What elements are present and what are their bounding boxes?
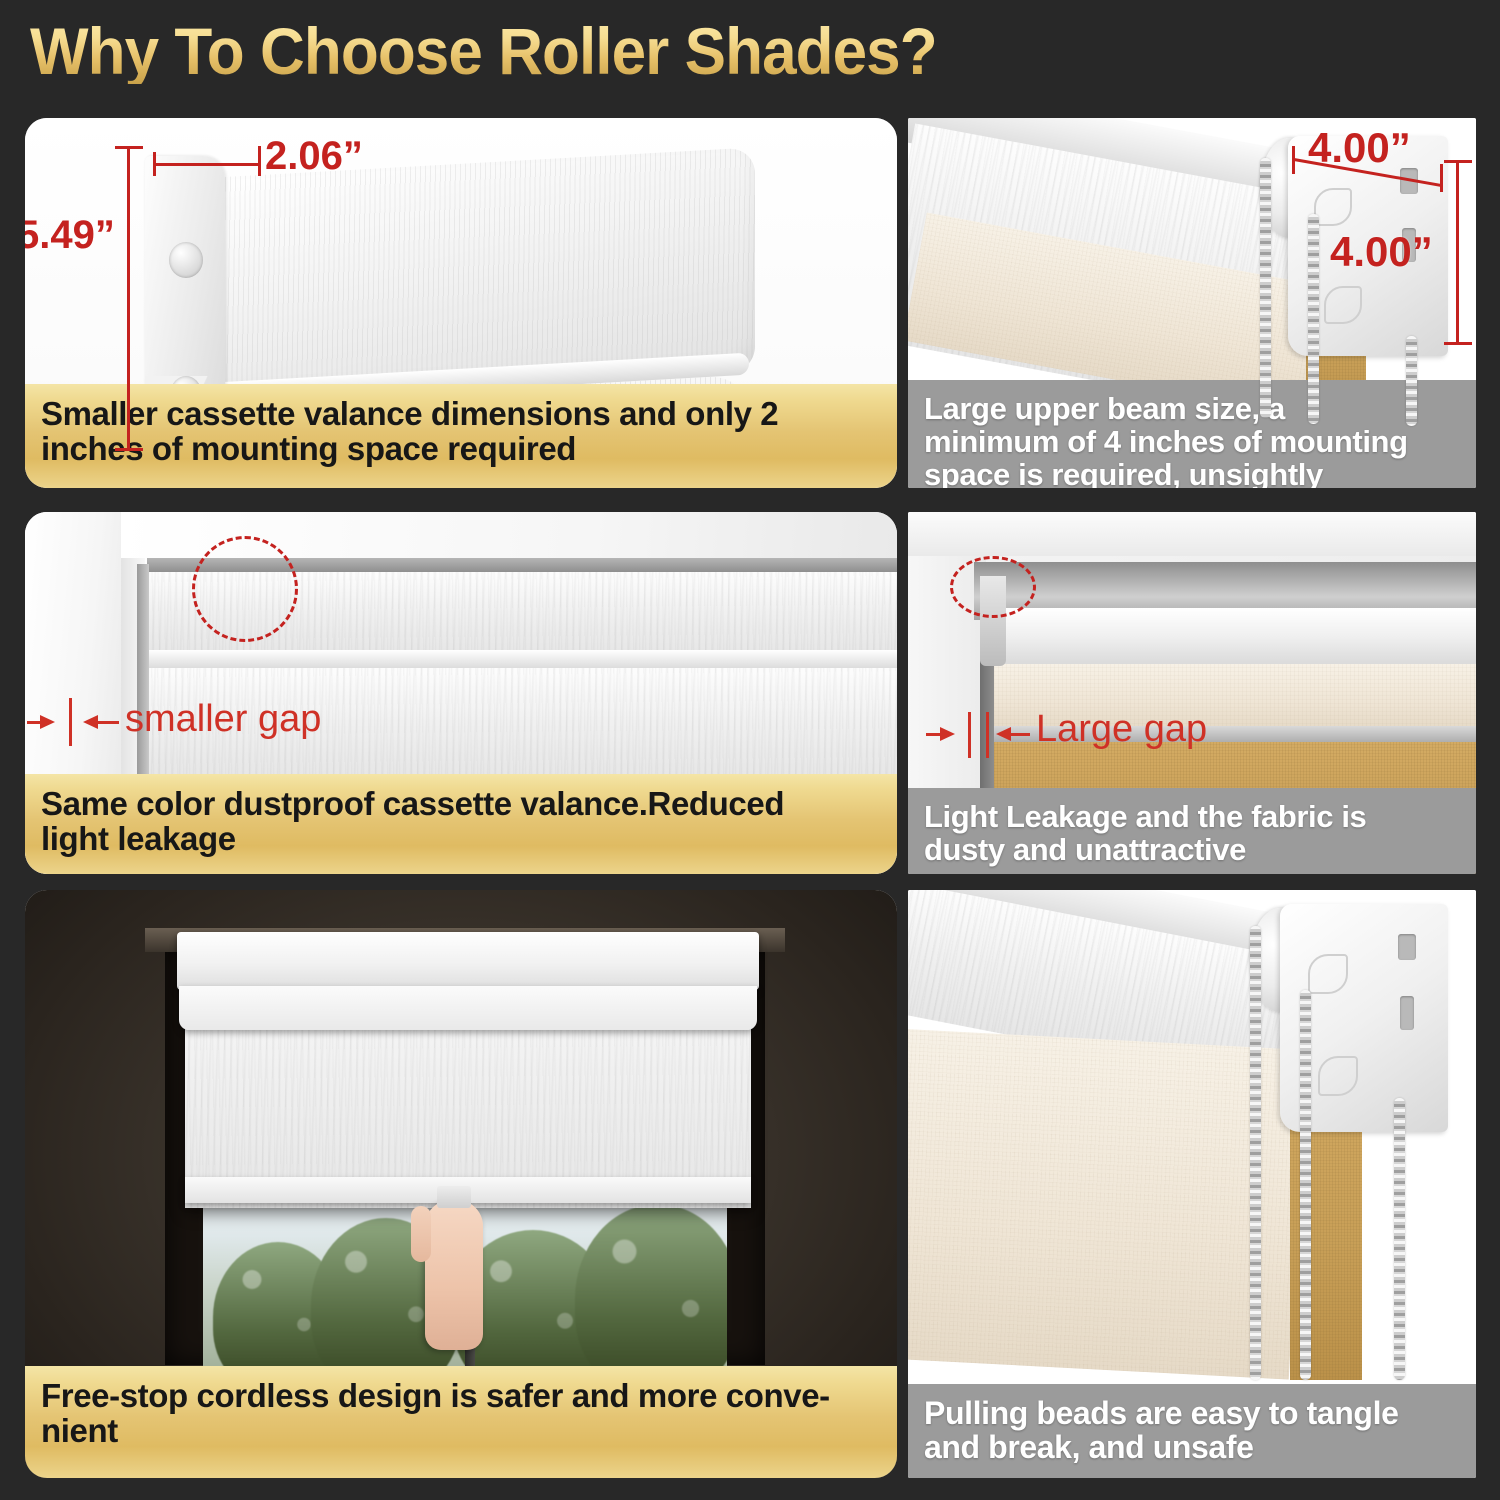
tree-foliage <box>575 1204 727 1375</box>
pull-tab <box>437 1186 471 1208</box>
page-title: Why To Choose Roller Shades? <box>30 18 937 84</box>
height-dimension-line <box>127 146 130 451</box>
valance-mid-lip <box>147 650 897 668</box>
caption-smaller-cassette-valance: Smaller cassette valance dimensions and … <box>25 384 897 488</box>
cassette-valance-lip <box>179 986 757 1030</box>
panel-pulling-beads-tangle: Pulling beads are easy to tangle and bre… <box>908 890 1476 1478</box>
height-dimension-label: 5.49” <box>25 213 115 258</box>
caption-line-2: inches of mounting space required <box>41 431 778 466</box>
caption-light-leakage-dusty-fabric: Light Leakage and the fabric is dusty an… <box>908 788 1476 874</box>
bead-chain-left <box>1260 158 1271 418</box>
caption-line-1: Free-stop cordless design is safer and m… <box>41 1378 830 1413</box>
panel-same-color-dustproof-valance: smaller gap Same color dustproof cassett… <box>25 512 897 874</box>
beam-height-cap-top <box>1444 160 1472 163</box>
panel-free-stop-cordless-design: Free-stop cordless design is safer and m… <box>25 890 897 1478</box>
caption-line-2: and break, and unsafe <box>924 1430 1398 1464</box>
width-dimension-cap-left <box>153 152 156 176</box>
panel-large-upper-beam: 4.00” 4.00” Large upper beam size, a min… <box>908 118 1476 488</box>
caption-large-upper-beam: Large upper beam size, a minimum of 4 in… <box>908 380 1476 488</box>
beam-height-label: 4.00” <box>1330 228 1433 276</box>
caption-line-2: nient <box>41 1413 830 1448</box>
gap-label: smaller gap <box>125 698 321 741</box>
end-cap-clutch-knob <box>169 242 203 278</box>
caption-line-3: space is required, unsightly <box>924 458 1408 488</box>
shade-fabric-cream <box>908 1028 1306 1379</box>
beam-width-cap-right <box>1440 164 1443 192</box>
caption-line-1: Light Leakage and the fabric is <box>924 800 1366 833</box>
ceiling-surface <box>908 512 1476 556</box>
caption-same-color-dustproof-valance: Same color dustproof cassette valance.Re… <box>25 774 897 874</box>
gap-arrow-left <box>940 727 955 741</box>
width-dimension-line <box>153 163 261 166</box>
gap-label: Large gap <box>1036 708 1207 751</box>
cassette-valance-head <box>177 932 759 990</box>
gap-arrow-right-tail <box>1010 733 1030 736</box>
gap-tick-right <box>986 712 989 758</box>
gap-highlight-circle <box>192 536 298 642</box>
height-dimension-cap-bottom <box>115 448 143 451</box>
caption-line-1: Large upper beam size, a <box>924 392 1408 425</box>
roller-tube <box>986 608 1476 670</box>
bead-chain-right <box>1394 1098 1405 1380</box>
title-bar: Why To Choose Roller Shades? <box>0 0 1500 108</box>
gap-highlight-circle <box>950 556 1036 618</box>
width-dimension-label: 2.06” <box>265 134 363 179</box>
caption-free-stop-cordless-design: Free-stop cordless design is safer and m… <box>25 1366 897 1478</box>
gap-tick-mark <box>69 698 72 746</box>
width-dimension-cap-right <box>258 146 261 176</box>
caption-line-2: minimum of 4 inches of mounting <box>924 425 1408 458</box>
panel-smaller-cassette-valance: 2.06” 5.49” Smaller cassette valance dim… <box>25 118 897 488</box>
gap-arrow-right-tail <box>97 721 119 724</box>
caption-line-1: Smaller cassette valance dimensions and … <box>41 396 778 431</box>
beam-width-cap-left <box>1292 146 1295 174</box>
caption-line-1: Pulling beads are easy to tangle <box>924 1396 1398 1430</box>
bead-chain-left <box>1250 926 1261 1380</box>
gap-tick-left <box>968 712 971 758</box>
panel-light-leakage-dusty-fabric: Large gap Light Leakage and the fabric i… <box>908 512 1476 874</box>
caption-line-2: light leakage <box>41 821 784 856</box>
bead-chain-middle <box>1300 990 1311 1380</box>
caption-line-2: dusty and unattractive <box>924 833 1366 866</box>
bead-chain-right <box>1406 336 1417 426</box>
beam-width-label: 4.00” <box>1308 124 1411 172</box>
beam-height-cap-bottom <box>1444 342 1472 345</box>
gap-arrow-right <box>83 715 98 729</box>
gap-arrow-left-tail <box>926 733 942 736</box>
bead-chain-middle <box>1308 214 1319 424</box>
gap-arrow-left-tail <box>27 721 43 724</box>
gap-arrow-right <box>996 727 1011 741</box>
hand-pulling-shade <box>425 1200 483 1350</box>
height-dimension-cap-top <box>115 146 143 149</box>
caption-line-1: Same color dustproof cassette valance.Re… <box>41 786 784 821</box>
beam-height-dimension-line <box>1456 160 1459 345</box>
caption-pulling-beads-tangle: Pulling beads are easy to tangle and bre… <box>908 1384 1476 1478</box>
